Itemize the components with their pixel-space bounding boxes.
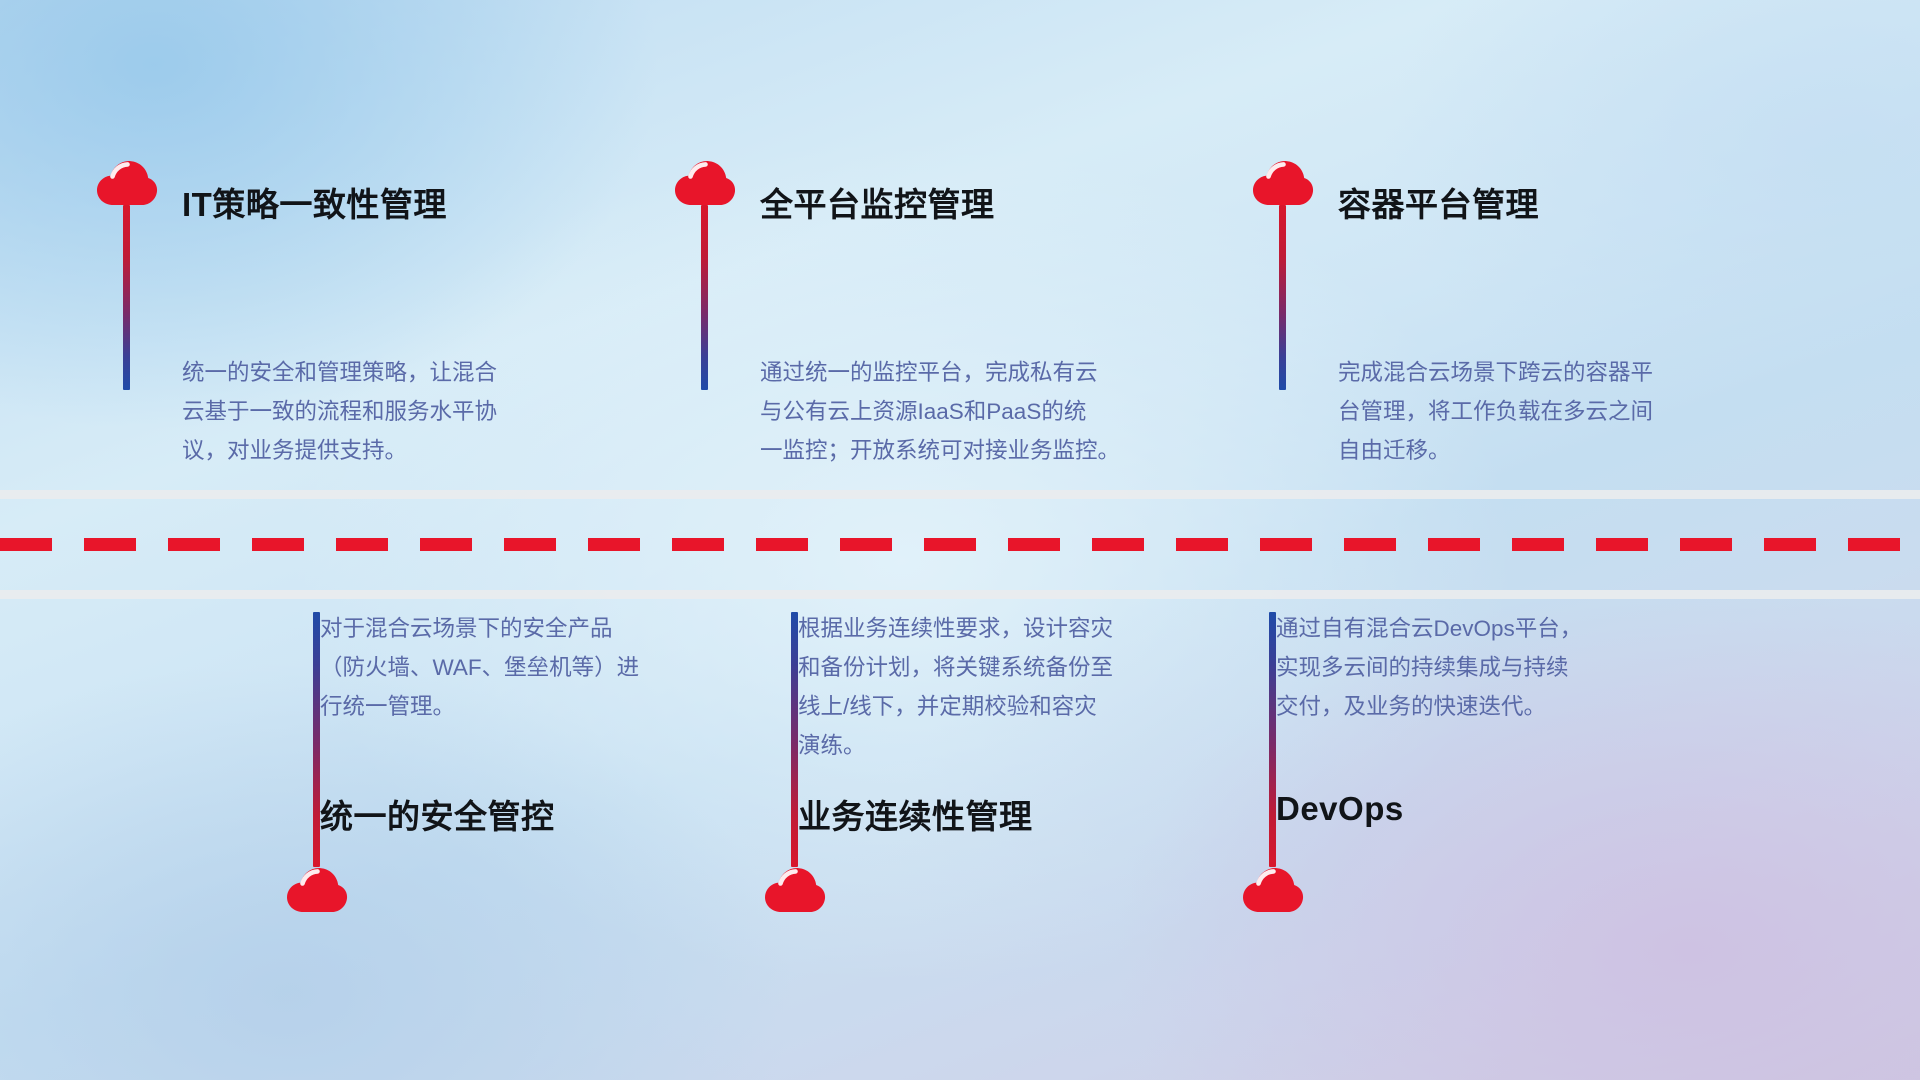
cloud-icon [1252,160,1314,206]
connector-stem [1269,612,1276,867]
card-description: 通过自有混合云DevOps平台， 实现多云间的持续集成与持续 交付，及业务的快速… [1276,609,1706,726]
cloud-pin-icon [96,160,160,206]
connector-stem [123,205,130,390]
card-title: IT策略一致性管理 [182,178,447,226]
cloud-icon [764,867,826,913]
cloud-icon [1242,867,1304,913]
divider-line-lower [0,590,1920,599]
card-description: 对于混合云场景下的安全产品 （防火墙、WAF、堡垒机等）进 行统一管理。 [320,609,750,726]
cloud-icon [674,160,736,206]
card-title: 容器平台管理 [1338,178,1539,226]
card-title: 全平台监控管理 [760,178,995,226]
connector-stem [791,612,798,867]
dashed-divider [0,538,1920,551]
card-title: DevOps [1276,790,1404,828]
card-description: 通过统一的监控平台，完成私有云 与公有云上资源IaaS和PaaS的统 一监控；开… [760,353,1190,470]
infographic-canvas: IT策略一致性管理 统一的安全和管理策略，让混合 云基于一致的流程和服务水平协 … [0,0,1920,1080]
connector-stem [701,205,708,390]
card-description: 完成混合云场景下跨云的容器平 台管理，将工作负载在多云之间 自由迁移。 [1338,353,1768,470]
cloud-pin-icon [1252,160,1316,206]
cloud-icon [96,160,158,206]
card-title: 统一的安全管控 [320,790,555,838]
card-description: 统一的安全和管理策略，让混合 云基于一致的流程和服务水平协 议，对业务提供支持。 [182,353,612,470]
connector-stem [1279,205,1286,390]
divider-line-upper [0,490,1920,499]
cloud-icon [286,867,348,913]
connector-stem [313,612,320,867]
card-title: 业务连续性管理 [798,790,1033,838]
card-description: 根据业务连续性要求，设计容灾 和备份计划，将关键系统备份至 线上/线下，并定期校… [798,609,1228,765]
cloud-pin-icon [674,160,738,206]
